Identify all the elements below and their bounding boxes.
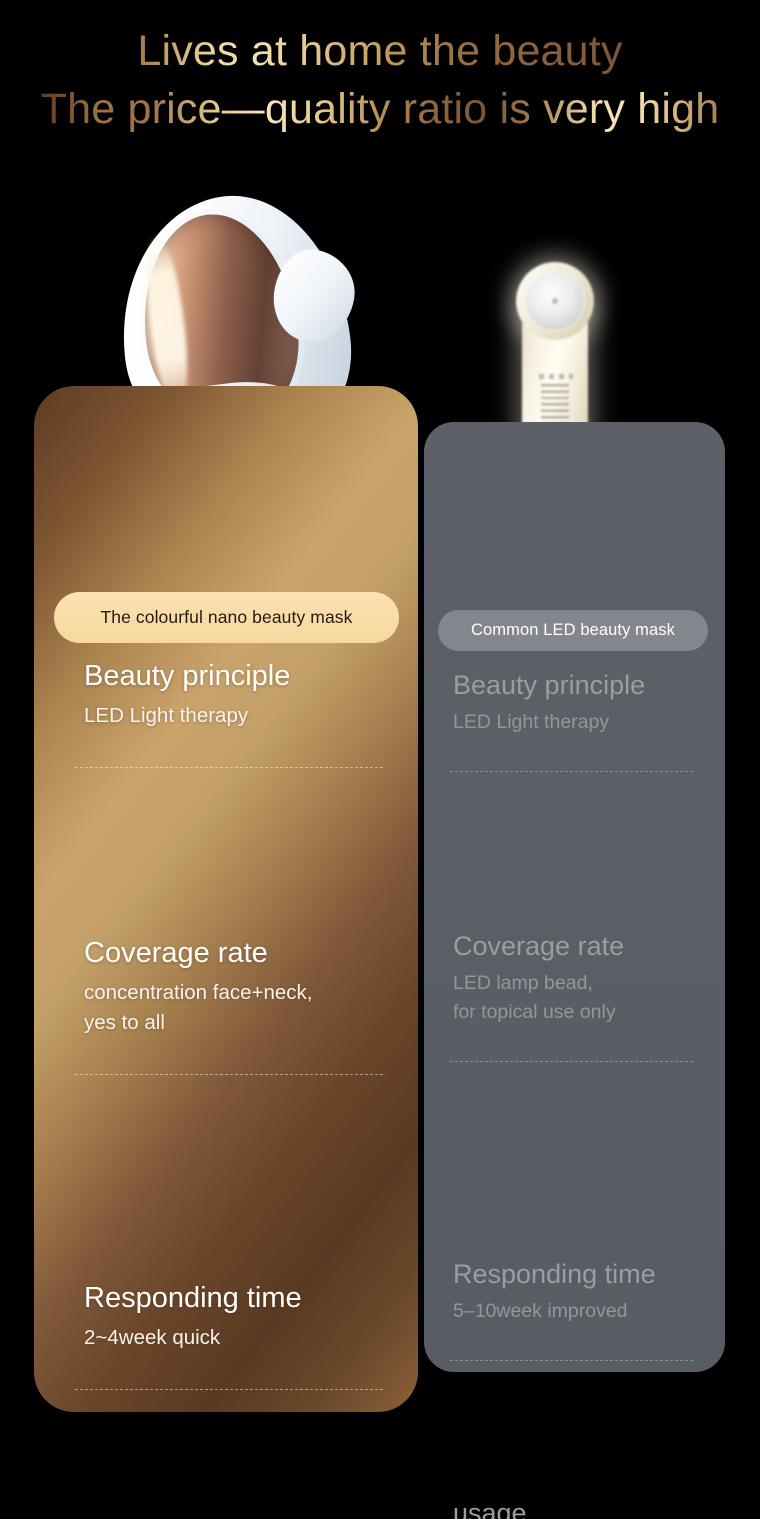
feature-row: Responding time 2~4week quick bbox=[34, 1282, 418, 1353]
feature-value: LED Light therapy bbox=[34, 701, 418, 731]
feature-row: Responding time 5–10week improved bbox=[424, 1259, 725, 1326]
feature-value: LED Light therapy bbox=[424, 708, 725, 737]
feature-value: LED lamp bead, for topical use only bbox=[424, 969, 725, 1027]
feature-value: concentration face+neck, yes to all bbox=[34, 978, 418, 1038]
feature-title: Coverage rate bbox=[424, 931, 725, 962]
featured-product-label-pill: The colourful nano beauty mask bbox=[54, 592, 399, 643]
feature-title: Beauty principle bbox=[34, 660, 418, 693]
feature-title: Responding time bbox=[424, 1259, 725, 1290]
feature-title: Beauty principle bbox=[424, 670, 725, 701]
headline-line-1: Lives at home the beauty bbox=[0, 22, 760, 80]
infographic-canvas: Lives at home the beauty The price—quali… bbox=[0, 0, 760, 1519]
feature-divider bbox=[75, 767, 383, 768]
feature-row: Beauty principle LED Light therapy bbox=[34, 660, 418, 731]
feature-divider bbox=[75, 1074, 383, 1075]
device-center-dot bbox=[552, 298, 558, 304]
feature-row: usage Electricity type bbox=[424, 1498, 725, 1519]
feature-value: 5–10week improved bbox=[424, 1297, 725, 1326]
device-level-labels bbox=[539, 374, 573, 379]
feature-divider bbox=[450, 1061, 693, 1062]
common-product-label-pill: Common LED beauty mask bbox=[438, 610, 708, 651]
feature-title: Coverage rate bbox=[34, 937, 418, 970]
feature-value: 2~4week quick bbox=[34, 1323, 418, 1353]
feature-row: Coverage rate LED lamp bead, for topical… bbox=[424, 931, 725, 1027]
common-feature-list: Beauty principle LED Light therapy Cover… bbox=[424, 670, 725, 1519]
feature-row: Beauty principle LED Light therapy bbox=[424, 670, 725, 737]
feature-row: Coverage rate concentration face+neck, y… bbox=[34, 937, 418, 1038]
feature-title: usage bbox=[424, 1498, 725, 1519]
feature-divider bbox=[450, 771, 693, 772]
common-product-label-text: Common LED beauty mask bbox=[471, 621, 675, 640]
headline-line-2: The price—quality ratio is very high bbox=[0, 80, 760, 138]
feature-title: Responding time bbox=[34, 1282, 418, 1315]
featured-feature-list: Beauty principle LED Light therapy Cover… bbox=[34, 660, 418, 1519]
feature-divider bbox=[75, 1389, 383, 1390]
page-title: Lives at home the beauty The price—quali… bbox=[0, 22, 760, 138]
feature-divider bbox=[450, 1360, 693, 1361]
device-level-bars bbox=[541, 384, 569, 426]
featured-product-label-text: The colourful nano beauty mask bbox=[100, 607, 352, 628]
